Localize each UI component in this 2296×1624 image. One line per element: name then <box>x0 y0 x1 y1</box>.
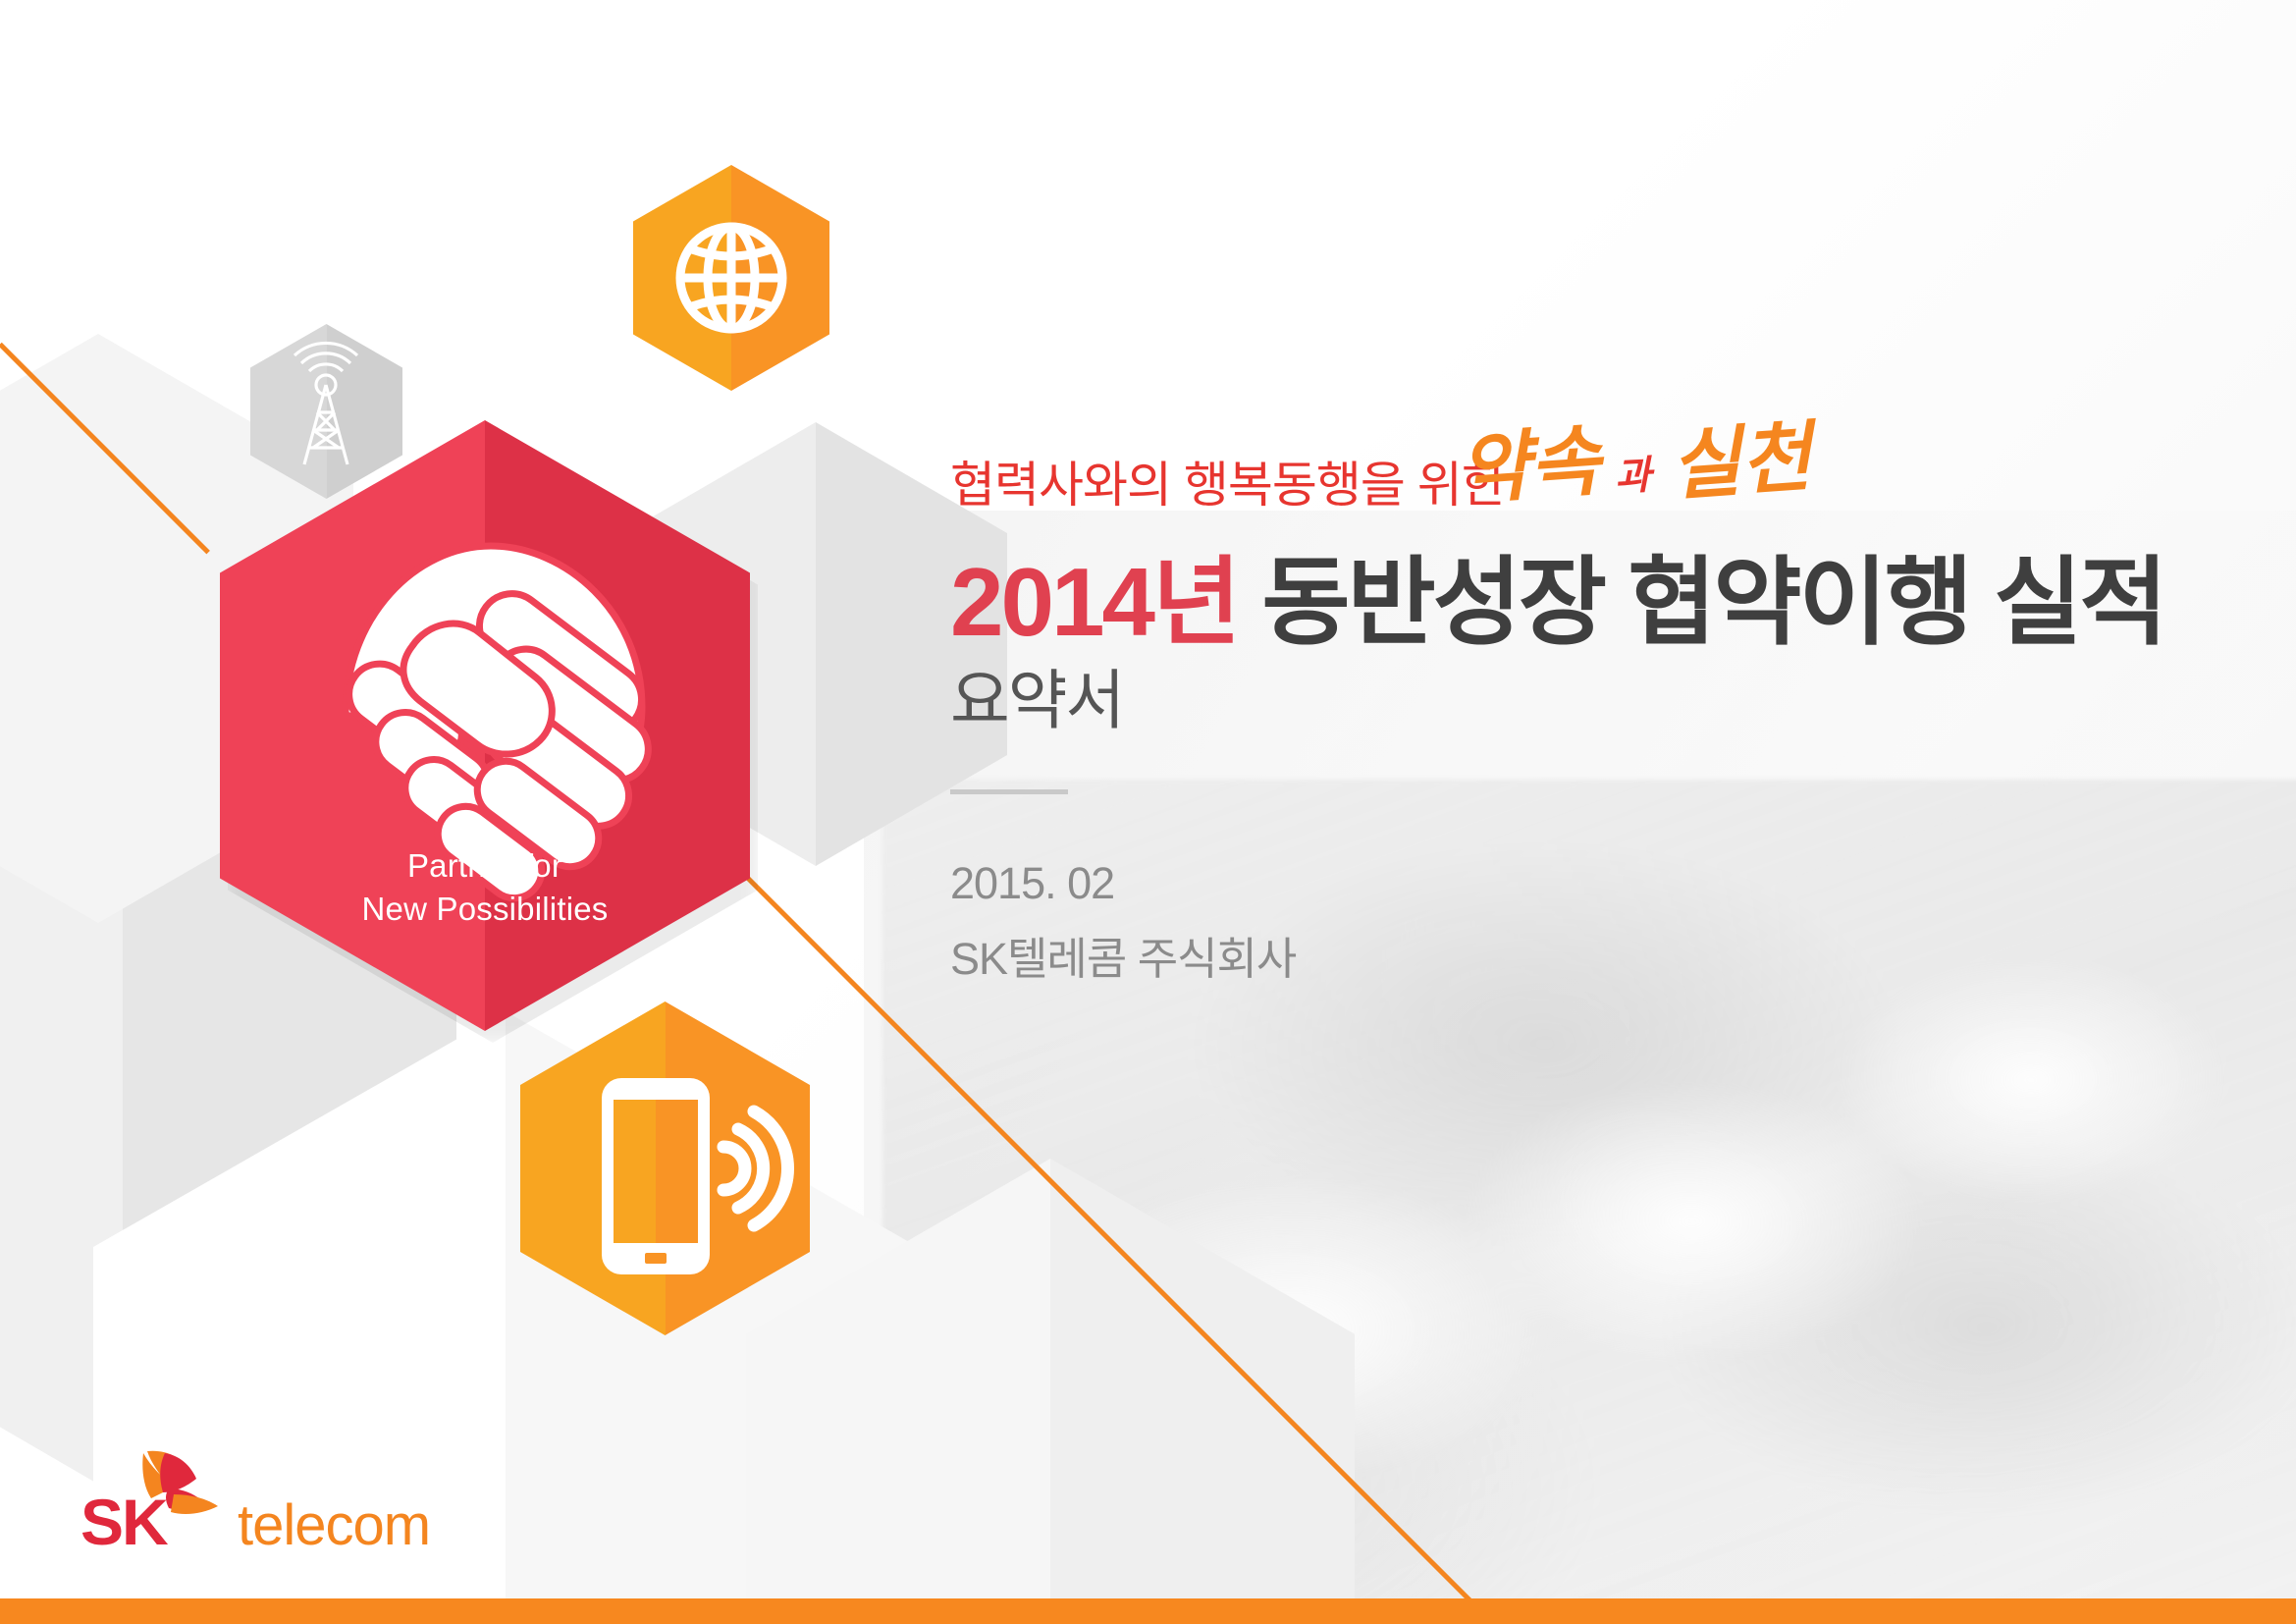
mobile-signal-icon <box>520 1001 810 1335</box>
publication-meta: 2015. 02 SK텔레콤 주식회사 <box>950 845 2226 998</box>
logo-sk-text: SK <box>80 1485 167 1559</box>
cover-page: Partner for New Possibilities 협력사와의 행복동행… <box>0 0 2296 1624</box>
handshake-icon <box>220 420 750 1031</box>
badge-mobile <box>520 1001 810 1335</box>
title-rest: 동반성장 협약이행 실적 <box>1261 548 2164 656</box>
partner-caption: Partner for New Possibilities <box>220 844 750 930</box>
script-particle-gwa: 과 <box>1614 443 1653 502</box>
script-word-practice: 실천 <box>1666 396 1814 515</box>
title-year: 2014년 <box>950 548 1238 656</box>
script-word-promise: 약속 <box>1455 400 1603 519</box>
title-block: 협력사와의 행복동행을 위한 약속 과 실천 2014년 동반성장 협약이행 실… <box>950 422 2226 997</box>
badge-partner-main[interactable]: Partner for New Possibilities <box>220 420 750 1031</box>
eyebrow-korean-text: 협력사와의 행복동행을 위한 <box>950 446 1506 516</box>
bottom-accent-bar <box>0 1598 2296 1624</box>
title-divider <box>950 789 1068 794</box>
badge-globe <box>633 165 829 391</box>
publication-date: 2015. 02 <box>950 845 2226 921</box>
sk-telecom-logo: SK telecom <box>80 1439 375 1567</box>
globe-icon <box>633 165 829 391</box>
publisher-name: SK텔레콤 주식회사 <box>950 921 2226 997</box>
eyebrow-row: 협력사와의 행복동행을 위한 약속 과 실천 <box>950 422 2226 540</box>
page-title: 2014년 동반성장 협약이행 실적 <box>950 548 2226 658</box>
logo-telecom-text: telecom <box>238 1492 430 1558</box>
page-subtitle: 요약서 <box>950 664 2226 738</box>
